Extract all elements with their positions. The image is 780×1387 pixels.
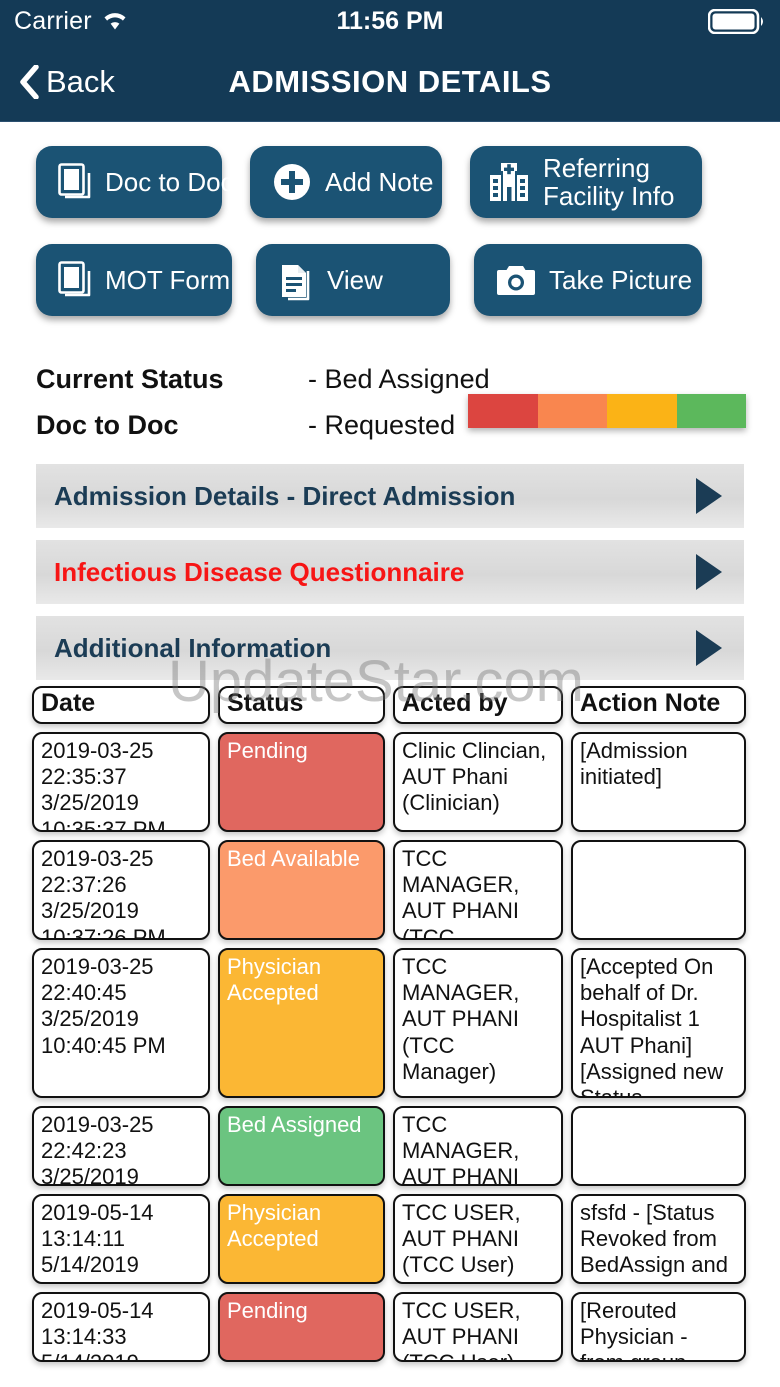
color-legend-segment-1 — [468, 394, 538, 428]
table-row[interactable]: 2019-03-25 22:35:37 3/25/2019 10:35:37 P… — [0, 732, 780, 840]
cell-date: 2019-05-14 13:14:11 5/14/2019 1:14:11 PM — [32, 1194, 210, 1284]
add-note-label: Add Note — [325, 167, 433, 198]
admission-details-screen: Carrier 11:56 PM Back ADMISSIO — [0, 0, 780, 1387]
back-button[interactable]: Back — [18, 64, 115, 100]
hospital-icon — [488, 161, 530, 203]
cell-date: 2019-03-25 22:35:37 3/25/2019 10:35:37 P… — [32, 732, 210, 832]
navigation-bar: Back ADMISSION DETAILS — [0, 42, 780, 122]
cell-acted-by: TCC USER, AUT PHANI (TCC User) — [393, 1292, 563, 1362]
doc-to-doc-status-value: - Requested — [308, 410, 455, 441]
referring-facility-info-button[interactable]: Referring Facility Info — [470, 146, 702, 218]
triangle-right-icon[interactable] — [696, 478, 722, 514]
cell-action-note: [Rerouted Physician - from group Cardiac — [571, 1292, 746, 1362]
cell-date: 2019-05-14 13:14:33 5/14/2019 1:14:33 PM — [32, 1292, 210, 1362]
color-legend-segment-4 — [677, 394, 747, 428]
triangle-right-icon[interactable] — [696, 630, 722, 666]
table-row[interactable]: 2019-05-14 13:14:33 5/14/2019 1:14:33 PM… — [0, 1292, 780, 1370]
documents-stack-icon — [278, 259, 314, 301]
action-history-table: UpdateStar.com Date Status Acted by Acti… — [0, 686, 780, 1370]
column-header-date[interactable]: Date — [32, 686, 210, 724]
cell-date: 2019-03-25 22:37:26 3/25/2019 10:37:26 P… — [32, 840, 210, 940]
column-header-acted-by[interactable]: Acted by — [393, 686, 563, 724]
cell-status: Physician Accepted — [218, 1194, 385, 1284]
cell-status: Bed Available — [218, 840, 385, 940]
mot-form-button[interactable]: MOT Form — [36, 244, 232, 316]
status-summary: Current Status - Bed Assigned Doc to Doc… — [0, 342, 780, 448]
page-title: ADMISSION DETAILS — [0, 64, 780, 100]
color-legend-segment-2 — [538, 394, 608, 428]
accordion-title: Additional Information — [54, 633, 331, 664]
cell-action-note: [Accepted On behalf of Dr. Hospitalist 1… — [571, 948, 746, 1098]
mot-form-label: MOT Form — [105, 265, 230, 296]
table-body: 2019-03-25 22:35:37 3/25/2019 10:35:37 P… — [0, 732, 780, 1370]
table-header-row: Date Status Acted by Action Note — [0, 686, 780, 732]
referring-label-line2: Facility Info — [543, 181, 675, 211]
cell-acted-by: Clinic Clincian, AUT Phani (Clinician) — [393, 732, 563, 832]
cell-date: 2019-03-25 22:40:45 3/25/2019 10:40:45 P… — [32, 948, 210, 1098]
cell-acted-by: TCC MANAGER, AUT PHANI (TCC Manager) — [393, 840, 563, 940]
cell-acted-by: TCC MANAGER, AUT PHANI (TCC Manager) — [393, 948, 563, 1098]
take-picture-button[interactable]: Take Picture — [474, 244, 702, 316]
action-button-grid: Doc to Doc Add Note — [0, 122, 780, 316]
column-header-action-note[interactable]: Action Note — [571, 686, 746, 724]
accordion-title: Admission Details - Direct Admission — [54, 481, 515, 512]
table-row[interactable]: 2019-03-25 22:37:26 3/25/2019 10:37:26 P… — [0, 840, 780, 948]
cell-action-note — [571, 840, 746, 940]
accordion-section-2[interactable]: Infectious Disease Questionnaire — [36, 540, 744, 604]
accordion-title: Infectious Disease Questionnaire — [54, 557, 464, 588]
referring-facility-info-label: Referring Facility Info — [543, 154, 675, 210]
table-row[interactable]: 2019-03-25 22:40:45 3/25/2019 10:40:45 P… — [0, 948, 780, 1106]
accordion-section-3[interactable]: Additional Information — [36, 616, 744, 680]
action-button-row-2: MOT Form View — [36, 244, 744, 316]
cell-status: Bed Assigned — [218, 1106, 385, 1186]
camera-icon — [496, 263, 536, 297]
document-icon — [58, 261, 92, 299]
battery-full-icon — [708, 9, 766, 34]
column-header-status[interactable]: Status — [218, 686, 385, 724]
current-status-value: - Bed Assigned — [308, 364, 490, 395]
add-note-button[interactable]: Add Note — [250, 146, 442, 218]
doc-to-doc-button[interactable]: Doc to Doc — [36, 146, 222, 218]
status-bar: Carrier 11:56 PM — [0, 0, 780, 42]
table-row[interactable]: 2019-05-14 13:14:11 5/14/2019 1:14:11 PM… — [0, 1194, 780, 1292]
cell-status: Physician Accepted — [218, 948, 385, 1098]
doc-to-doc-label: Doc to Doc — [105, 167, 234, 198]
cell-action-note — [571, 1106, 746, 1186]
doc-to-doc-status-label: Doc to Doc — [36, 410, 308, 441]
view-button[interactable]: View — [256, 244, 450, 316]
clock-label: 11:56 PM — [0, 7, 780, 36]
cell-action-note: sfsfd - [Status Revoked from BedAssign a… — [571, 1194, 746, 1284]
color-legend-segment-3 — [607, 394, 677, 428]
action-button-row-1: Doc to Doc Add Note — [36, 146, 744, 218]
cell-status: Pending — [218, 732, 385, 832]
cell-date: 2019-03-25 22:42:23 3/25/2019 10:42:23 P… — [32, 1106, 210, 1186]
referring-label-line1: Referring — [543, 153, 650, 183]
cell-acted-by: TCC MANAGER, AUT PHANI (TCC Manager) — [393, 1106, 563, 1186]
accordion-list: Admission Details - Direct AdmissionInfe… — [0, 464, 780, 680]
view-label: View — [327, 265, 383, 296]
cell-action-note: [Admission initiated] — [571, 732, 746, 832]
plus-circle-icon — [272, 162, 312, 202]
cell-acted-by: TCC USER, AUT PHANI (TCC User) — [393, 1194, 563, 1284]
back-label: Back — [46, 64, 115, 100]
table-row[interactable]: 2019-03-25 22:42:23 3/25/2019 10:42:23 P… — [0, 1106, 780, 1194]
chevron-left-icon — [18, 65, 40, 99]
accordion-section-1[interactable]: Admission Details - Direct Admission — [36, 464, 744, 528]
status-color-legend — [468, 394, 746, 428]
take-picture-label: Take Picture — [549, 265, 692, 296]
cell-status: Pending — [218, 1292, 385, 1362]
triangle-right-icon[interactable] — [696, 554, 722, 590]
document-icon — [58, 163, 92, 201]
current-status-label: Current Status — [36, 364, 308, 395]
